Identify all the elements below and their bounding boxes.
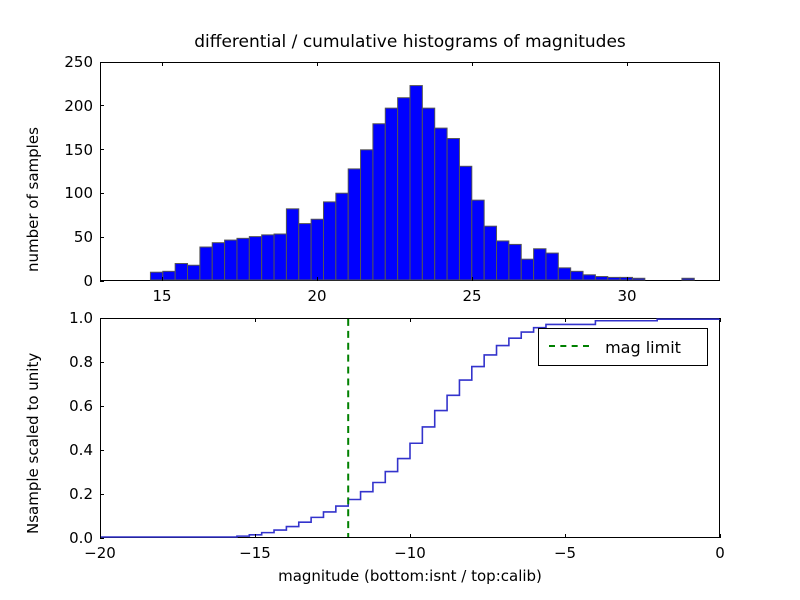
histogram-bar — [410, 86, 422, 280]
histogram-bar — [225, 240, 237, 280]
bottom-panel-y-axis-label: Nsample scaled to unity — [24, 353, 42, 534]
histogram-bar — [361, 150, 373, 280]
histogram-bar — [237, 238, 249, 280]
x-tick-label: 30 — [617, 287, 636, 305]
y-tick-mark — [100, 237, 104, 238]
histogram-bar — [632, 278, 644, 280]
y-tick-mark — [100, 62, 104, 63]
histogram-bar — [336, 193, 348, 280]
legend-swatch-mag-limit — [549, 345, 589, 349]
histogram-bar — [274, 234, 286, 280]
x-tick-mark — [565, 534, 566, 538]
histogram-bar — [299, 224, 311, 280]
x-tick-label: −5 — [554, 544, 576, 562]
x-tick-label: −10 — [394, 544, 426, 562]
histogram-bar — [558, 268, 570, 280]
histogram-bar — [262, 235, 274, 280]
x-tick-label: 20 — [307, 287, 326, 305]
x-tick-mark — [627, 277, 628, 281]
matplotlib-figure: differential / cumulative histograms of … — [0, 0, 800, 600]
y-tick-label: 150 — [64, 141, 93, 159]
histogram-bar — [534, 249, 546, 280]
y-tick-label: 100 — [64, 184, 93, 202]
x-tick-mark — [720, 534, 721, 538]
top-panel-axes — [100, 62, 720, 281]
histogram-bar — [348, 169, 360, 280]
histogram-bar — [398, 98, 410, 280]
y-tick-label: 200 — [64, 97, 93, 115]
histogram-bar — [249, 237, 261, 280]
histogram-bar — [286, 209, 298, 280]
y-tick-mark — [100, 494, 104, 495]
y-tick-label: 1.0 — [69, 309, 93, 327]
histogram-plot-area — [101, 63, 719, 280]
histogram-bar — [175, 264, 187, 280]
histogram-bar — [163, 271, 175, 280]
x-tick-mark — [317, 277, 318, 281]
x-axis-label: magnitude (bottom:isnt / top:calib) — [100, 567, 720, 585]
histogram-bar — [595, 277, 607, 280]
x-tick-mark — [410, 534, 411, 538]
histogram-bar — [521, 259, 533, 280]
histogram-bar — [311, 219, 323, 280]
x-tick-mark — [162, 277, 163, 281]
y-tick-label: 250 — [64, 53, 93, 71]
y-tick-mark — [100, 538, 104, 539]
y-tick-label: 0.8 — [69, 353, 93, 371]
histogram-bar — [447, 139, 459, 280]
y-tick-mark — [100, 149, 104, 150]
histogram-bar — [385, 108, 397, 280]
x-tick-mark-top — [100, 318, 101, 322]
x-tick-mark-top — [472, 62, 473, 66]
histogram-bar — [200, 247, 212, 280]
x-tick-label: −20 — [84, 544, 116, 562]
histogram-bar — [472, 200, 484, 280]
x-tick-label: 0 — [715, 544, 725, 562]
histogram-bar — [484, 226, 496, 280]
x-tick-mark-top — [565, 318, 566, 322]
y-tick-mark — [100, 281, 104, 282]
top-panel-y-axis-label: number of samples — [24, 127, 42, 272]
x-tick-mark-top — [162, 62, 163, 66]
y-tick-mark — [100, 362, 104, 363]
histogram-bar — [188, 265, 200, 280]
x-tick-label: 15 — [152, 287, 171, 305]
x-tick-mark-top — [627, 62, 628, 66]
y-tick-mark — [100, 318, 104, 319]
x-tick-mark-top — [255, 318, 256, 322]
histogram-bar — [373, 124, 385, 280]
y-tick-label: 50 — [74, 228, 93, 246]
y-tick-mark — [100, 193, 104, 194]
x-tick-mark-top — [410, 318, 411, 322]
y-tick-mark — [100, 105, 104, 106]
x-tick-mark-top — [317, 62, 318, 66]
y-tick-label: 0.6 — [69, 397, 93, 415]
y-tick-label: 0.2 — [69, 485, 93, 503]
legend: mag limit — [538, 328, 708, 366]
histogram-bar — [435, 128, 447, 280]
figure-title: differential / cumulative histograms of … — [100, 32, 720, 52]
x-tick-mark — [472, 277, 473, 281]
histogram-bar — [608, 277, 620, 280]
histogram-bar — [546, 253, 558, 280]
histogram-bar — [497, 241, 509, 280]
x-tick-mark-top — [720, 318, 721, 322]
bottom-panel-axes: mag limit — [100, 318, 720, 538]
y-tick-label: 0.4 — [69, 441, 93, 459]
y-tick-mark — [100, 450, 104, 451]
histogram-bar — [509, 244, 521, 280]
y-tick-mark — [100, 406, 104, 407]
histogram-bar — [422, 108, 434, 280]
x-tick-label: −15 — [239, 544, 271, 562]
histogram-bar — [571, 271, 583, 280]
histogram-bar — [323, 202, 335, 280]
x-tick-label: 25 — [462, 287, 481, 305]
x-tick-mark — [100, 534, 101, 538]
histogram-bar — [459, 166, 471, 280]
histogram-bar — [212, 243, 224, 280]
histogram-bar — [682, 278, 694, 280]
legend-label-mag-limit: mag limit — [589, 338, 697, 357]
y-tick-label: 0 — [83, 272, 93, 290]
x-tick-mark — [255, 534, 256, 538]
histogram-bar — [583, 275, 595, 280]
